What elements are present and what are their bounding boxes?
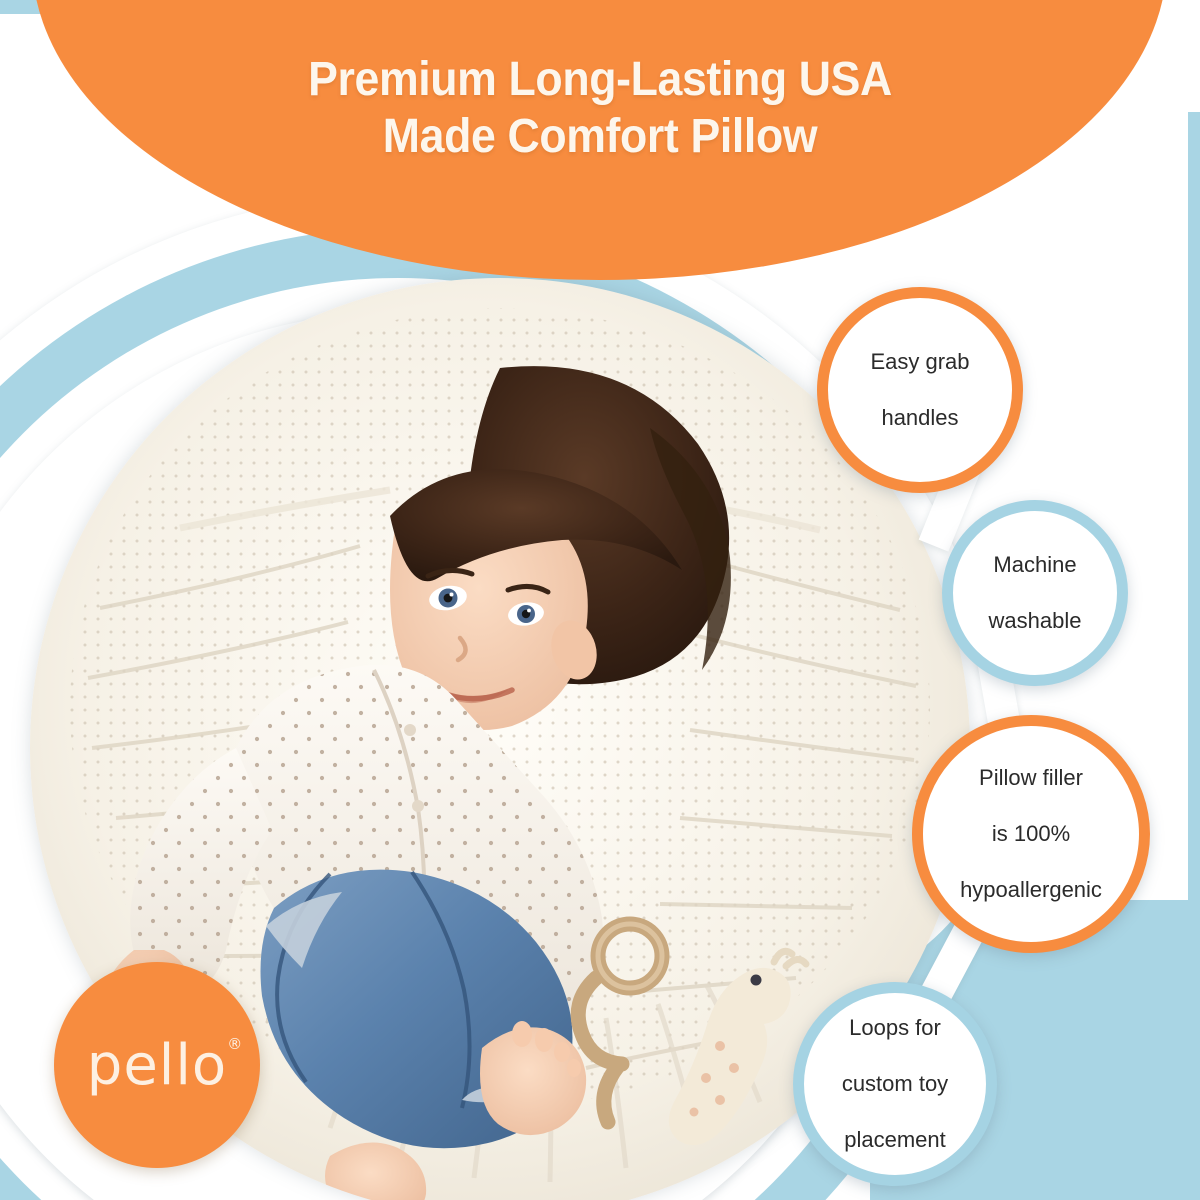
brand-name: pello [87,1033,227,1098]
product-infographic: Premium Long-Lasting USA Made Comfort Pi… [0,0,1200,1200]
page-title: Premium Long-Lasting USA Made Comfort Pi… [42,52,1158,165]
feature-label-toy-loops: Loops for custom toy placement [826,1014,964,1155]
brand-logo-wordmark: pello® [87,1033,227,1098]
feature-line-2: is 100% [952,820,1110,848]
feature-bubble-machine-washable[interactable]: Machine washable [942,500,1128,686]
feature-label-machine-washable: Machine washable [973,551,1098,635]
feature-line-3: hypoallergenic [952,876,1110,904]
registered-trademark-icon: ® [227,1035,243,1053]
page-title-line2: Made Comfort Pillow [42,109,1158,166]
feature-line-1: Loops for [834,1014,956,1042]
feature-label-easy-grab-handles: Easy grab handles [854,348,985,432]
page-title-line1: Premium Long-Lasting USA [42,52,1158,109]
feature-line-2: custom toy [834,1070,956,1098]
feature-line-2: washable [981,607,1090,635]
feature-label-hypoallergenic: Pillow filler is 100% hypoallergenic [944,764,1118,905]
feature-bubble-toy-loops[interactable]: Loops for custom toy placement [793,982,997,1186]
feature-line-1: Pillow filler [952,764,1110,792]
feature-line-3: placement [834,1126,956,1154]
feature-line-1: Machine [981,551,1090,579]
feature-bubble-hypoallergenic[interactable]: Pillow filler is 100% hypoallergenic [912,715,1150,953]
feature-line-2: handles [862,404,977,432]
right-edge-blue-band [1188,112,1200,1200]
brand-logo[interactable]: pello® [54,962,260,1168]
feature-bubble-easy-grab-handles[interactable]: Easy grab handles [817,287,1023,493]
feature-line-1: Easy grab [862,348,977,376]
